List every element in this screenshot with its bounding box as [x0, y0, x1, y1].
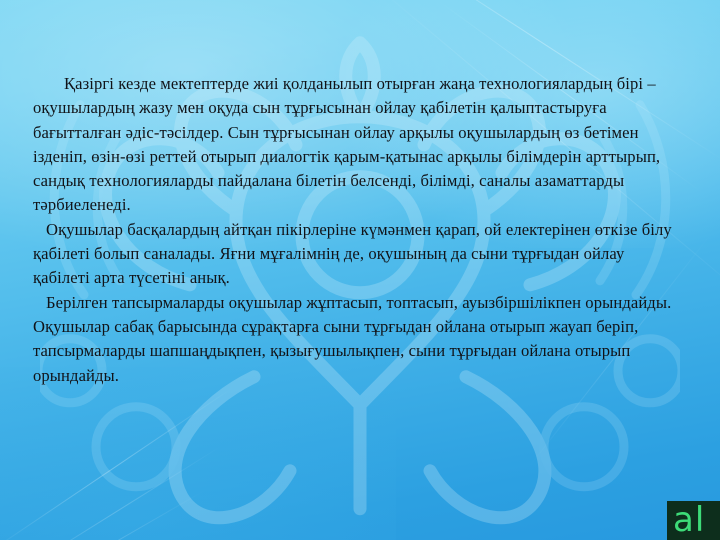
corner-logo-badge: al [667, 501, 720, 540]
slide-canvas: Қазіргі кезде мектептерде жиі қолданылып… [0, 0, 720, 540]
light-streak [0, 386, 235, 540]
light-streak [9, 446, 222, 540]
corner-logo-text: al [673, 501, 705, 540]
slide-body-text: Қазіргі кезде мектептерде жиі қолданылып… [33, 72, 685, 388]
background-haze-bottom-left [0, 367, 396, 540]
paragraph-1: Қазіргі кезде мектептерде жиі қолданылып… [33, 72, 685, 218]
paragraph-3: Берілген тапсырмаларды оқушылар жұптасып… [33, 291, 685, 388]
light-streak [31, 490, 205, 540]
paragraph-2: Оқушылар басқалардың айтқан пікірлеріне … [33, 218, 685, 291]
